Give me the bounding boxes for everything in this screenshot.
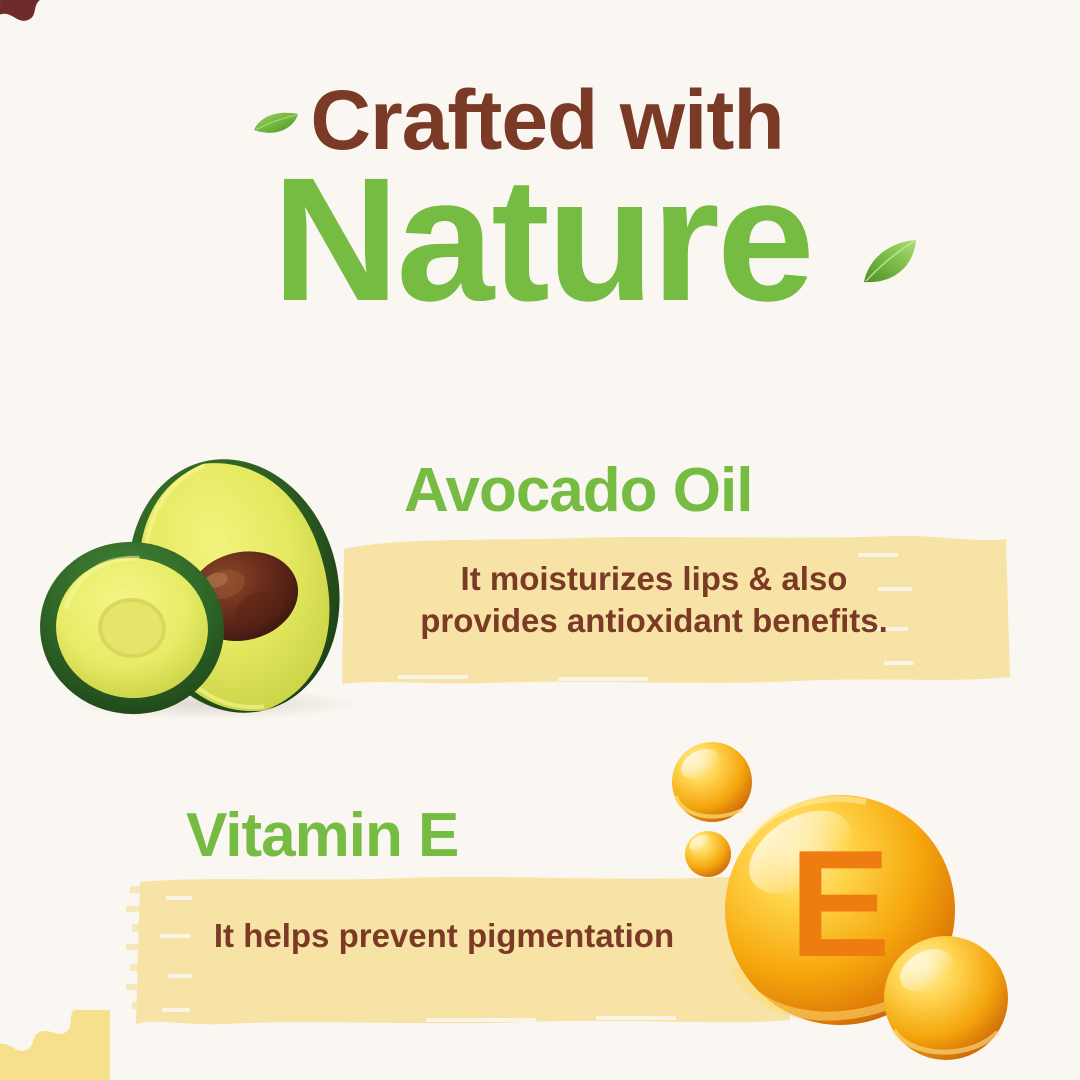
droplet-lower-right: [884, 936, 1008, 1060]
poster-heading: Crafted with Nature: [0, 78, 1080, 325]
corner-blob-bottom-left-icon: [0, 1010, 110, 1080]
ingredient-title-avocado-oil: Avocado Oil: [404, 455, 752, 526]
droplet-tiny: [685, 831, 731, 877]
vitamin-e-gel-droplets-image: E: [650, 730, 1020, 1070]
droplet-small-upper: [672, 742, 752, 822]
ingredient-title-vitamin-e: Vitamin E: [186, 800, 458, 871]
avocado-halves-image: [28, 446, 392, 722]
ingredient-description-vitamin-e: It helps prevent pigmentation: [188, 915, 700, 957]
heading-line-2: Nature: [0, 156, 1080, 325]
poster-canvas: Crafted with Nature: [0, 0, 1080, 1080]
ingredient-description-avocado-oil: It moisturizes lips & also provides anti…: [404, 558, 904, 641]
droplet-letter-e: E: [789, 819, 890, 989]
corner-blob-top-left-icon: [0, 0, 116, 64]
